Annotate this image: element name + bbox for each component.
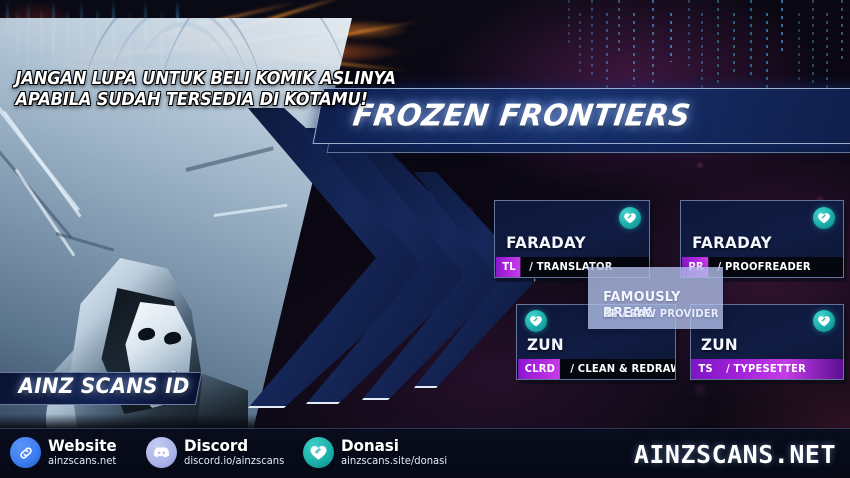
raw-provider-overlay-card[interactable]: FAMOUSLY BREAK RP / RAW PROVIDER: [588, 267, 723, 329]
footer-link-title: Discord: [184, 438, 284, 455]
credit-role-bar: CLRD / CLEAN & REDRAWER: [517, 359, 675, 379]
digital-rain-column: [568, 0, 570, 46]
digital-rain-column: [812, 0, 814, 86]
group-logo-text: AINZ SCANS ID: [19, 374, 190, 398]
tagline-line-2: APABILA SUDAH TERSEDIA DI KOTAMU!: [16, 90, 323, 111]
role-code-chip: TL: [496, 257, 521, 277]
credit-name: ZUN: [701, 335, 738, 354]
heart-hands-icon: [525, 310, 547, 332]
page-title: FROZEN FRONTIERS: [351, 99, 693, 134]
tagline-line-1: JANGAN LUPA UNTUK BELI KOMIK ASLINYA: [16, 69, 323, 90]
footer-link-title: Donasi: [341, 438, 447, 455]
credit-name: FARADAY: [692, 233, 772, 252]
footer-link-url: ainzscans.net: [48, 456, 117, 467]
site-url-text: AINZSCANS.NET: [634, 440, 836, 469]
role-label: / CLEAN & REDRAWER: [565, 363, 675, 375]
credits-banner: JANGAN LUPA UNTUK BELI KOMIK ASLINYA APA…: [0, 0, 850, 478]
digital-rain-column: [579, 13, 581, 76]
digital-rain-column: [591, 0, 593, 80]
role-code-chip: TS: [692, 359, 718, 379]
overlay-credit-role: RP / RAW PROVIDER: [603, 308, 719, 320]
digital-rain-column: [798, 13, 800, 82]
credit-name: FARADAY: [506, 233, 586, 252]
digital-rain-column: [733, 13, 735, 72]
heart-hands-icon: [619, 207, 641, 229]
footer-link-donasi[interactable]: Donasi ainzscans.site/donasi: [303, 437, 453, 468]
role-label: / PROOFREADER: [712, 261, 817, 273]
link-chain-icon: [10, 437, 41, 468]
footer-link-url: ainzscans.site/donasi: [341, 456, 447, 467]
digital-rain-column: [701, 13, 703, 96]
digital-rain-column: [688, 0, 690, 66]
digital-rain-column: [652, 0, 654, 90]
series-title-banner: FROZEN FRONTIERS: [318, 88, 850, 144]
credit-role-bar: TS / TYPESETTER: [691, 359, 843, 379]
role-label: / TYPESETTER: [721, 363, 812, 375]
footer-link-title: Website: [48, 438, 117, 455]
buy-original-tagline: JANGAN LUPA UNTUK BELI KOMIK ASLINYA APA…: [4, 69, 334, 112]
role-code-chip: CLRD: [518, 359, 560, 379]
heart-hands-icon: [303, 437, 334, 468]
digital-rain-column: [781, 0, 783, 52]
credit-name: ZUN: [527, 335, 564, 354]
discord-icon: [146, 437, 177, 468]
digital-rain-column: [717, 0, 719, 100]
digital-rain-column: [633, 13, 635, 86]
footer-bar: Website ainzscans.net Discord discord.io…: [0, 428, 850, 478]
footer-link-website[interactable]: Website ainzscans.net: [10, 437, 120, 468]
heart-hands-icon: [813, 207, 835, 229]
digital-rain-column: [618, 0, 620, 56]
digital-rain-column: [750, 0, 752, 76]
digital-rain-column: [841, 0, 843, 62]
footer-link-discord[interactable]: Discord discord.io/ainzscans: [146, 437, 290, 468]
digital-rain-column: [670, 13, 672, 62]
footer-link-url: discord.io/ainzscans: [184, 456, 284, 467]
heart-hands-icon: [813, 310, 835, 332]
